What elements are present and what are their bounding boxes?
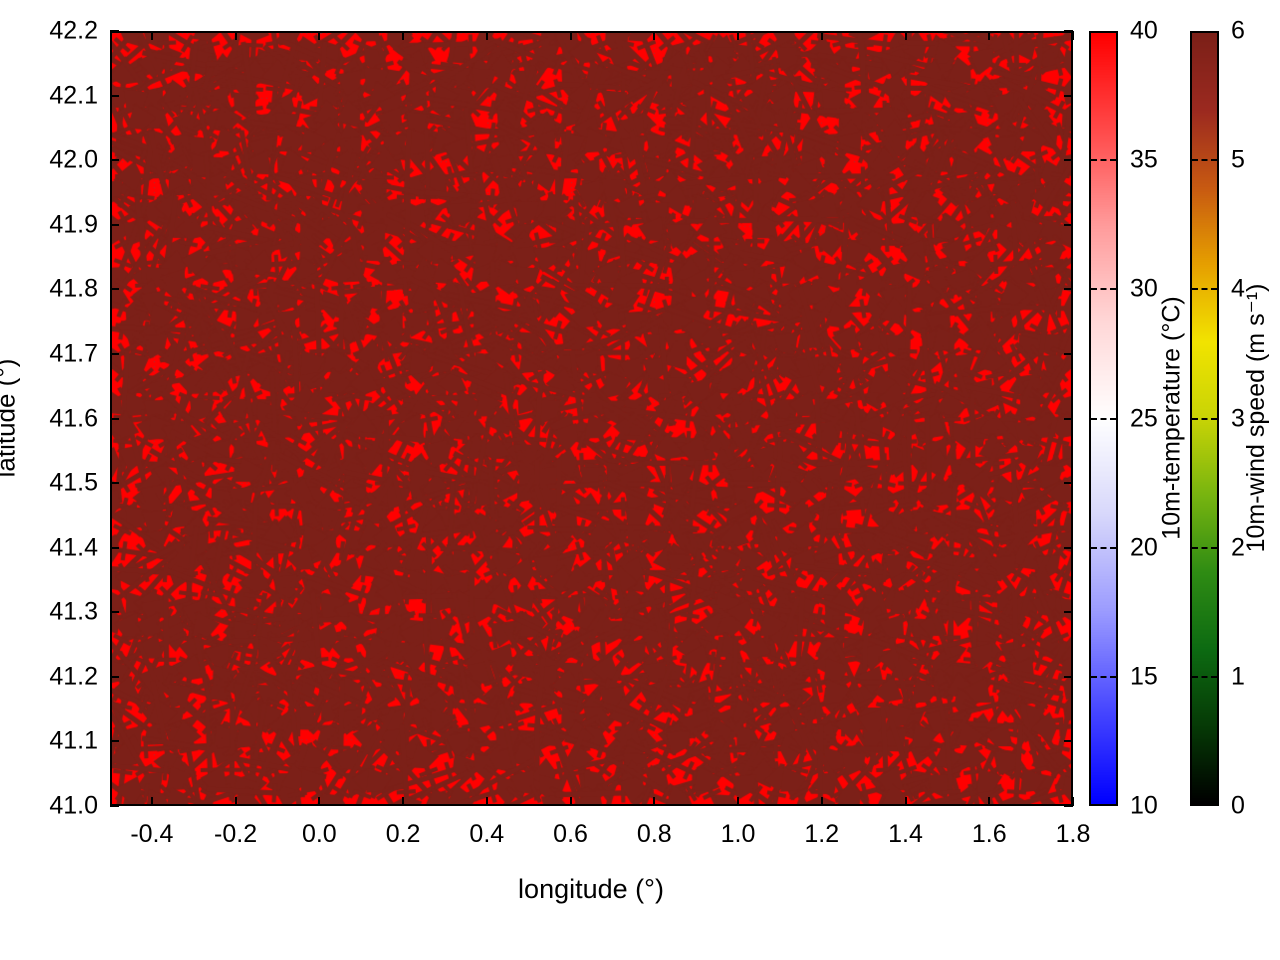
y-axis-label: latitude (°) xyxy=(0,359,22,478)
colorbar-tick-label: 10 xyxy=(1130,792,1158,821)
y-tick-label: 42.2 xyxy=(0,17,98,46)
tick-mark xyxy=(110,159,119,161)
tick-mark xyxy=(1064,159,1073,161)
tick-mark xyxy=(110,547,119,549)
colorbar-tick-label: 20 xyxy=(1130,533,1158,562)
y-tick-label: 42.0 xyxy=(0,146,98,175)
tick-mark xyxy=(151,31,153,40)
tick-mark xyxy=(402,797,404,806)
y-tick-label: 41.2 xyxy=(0,662,98,691)
tick-mark xyxy=(110,676,119,678)
colorbar-tick-label: 30 xyxy=(1130,275,1158,304)
tick-mark xyxy=(737,797,739,806)
tick-mark xyxy=(235,31,237,40)
colorbar-tick-dash xyxy=(1091,418,1116,420)
x-tick-label: 0.6 xyxy=(553,820,588,849)
colorbar-tick-label: 40 xyxy=(1130,17,1158,46)
tick-mark xyxy=(1064,353,1073,355)
tick-mark xyxy=(1064,418,1073,420)
tick-mark xyxy=(1064,482,1073,484)
colorbar-tick-label: 0 xyxy=(1231,792,1245,821)
y-tick-label: 41.1 xyxy=(0,727,98,756)
x-tick-label: 1.6 xyxy=(972,820,1007,849)
x-tick-label: 1.8 xyxy=(1056,820,1091,849)
tick-mark xyxy=(110,418,119,420)
tick-mark xyxy=(318,31,320,40)
tick-mark xyxy=(1064,288,1073,290)
tick-mark xyxy=(570,31,572,40)
y-tick-label: 41.3 xyxy=(0,598,98,627)
colorbar-tick-label: 15 xyxy=(1130,662,1158,691)
tick-mark xyxy=(1064,547,1073,549)
tick-mark xyxy=(110,224,119,226)
tick-mark xyxy=(1064,740,1073,742)
tick-mark xyxy=(318,797,320,806)
tick-mark xyxy=(110,805,119,807)
colorbar-tick-dash xyxy=(1091,159,1116,161)
tick-mark xyxy=(653,31,655,40)
tick-mark xyxy=(905,31,907,40)
colorbar-tick-dash xyxy=(1192,676,1217,678)
map-plot-panel xyxy=(110,31,1073,806)
tick-mark xyxy=(1072,31,1074,40)
x-tick-label: 0.0 xyxy=(302,820,337,849)
x-tick-label: -0.2 xyxy=(214,820,257,849)
x-tick-label: 0.2 xyxy=(386,820,421,849)
tick-mark xyxy=(821,797,823,806)
colorbar-tick-dash xyxy=(1192,547,1217,549)
y-tick-label: 41.8 xyxy=(0,275,98,304)
temperature-colorbar-label: 10m-temperature (°C) xyxy=(1158,296,1187,539)
x-tick-label: 1.0 xyxy=(721,820,756,849)
colorbar-tick-dash xyxy=(1192,418,1217,420)
x-tick-label: 1.2 xyxy=(804,820,839,849)
x-tick-label: -0.4 xyxy=(130,820,173,849)
tick-mark xyxy=(988,797,990,806)
tick-mark xyxy=(110,353,119,355)
colorbar-tick-dash xyxy=(1091,676,1116,678)
tick-mark xyxy=(653,797,655,806)
tick-mark xyxy=(486,31,488,40)
tick-mark xyxy=(1072,797,1074,806)
tick-mark xyxy=(1064,611,1073,613)
colorbar-tick-dash xyxy=(1091,547,1116,549)
tick-mark xyxy=(570,797,572,806)
x-tick-label: 1.4 xyxy=(888,820,923,849)
y-tick-label: 41.9 xyxy=(0,210,98,239)
tick-mark xyxy=(988,31,990,40)
tick-mark xyxy=(402,31,404,40)
tick-mark xyxy=(1064,224,1073,226)
wind-speed-colorbar-label: 10m-wind speed (m s⁻¹) xyxy=(1241,284,1271,553)
x-tick-label: 0.8 xyxy=(637,820,672,849)
colorbar-tick-label: 5 xyxy=(1231,146,1245,175)
tick-mark xyxy=(235,797,237,806)
tick-mark xyxy=(110,30,119,32)
tick-mark xyxy=(1064,676,1073,678)
x-tick-label: 0.4 xyxy=(469,820,504,849)
colorbar-tick-label: 35 xyxy=(1130,146,1158,175)
tick-mark xyxy=(1064,95,1073,97)
tick-mark xyxy=(110,740,119,742)
tick-mark xyxy=(110,95,119,97)
colorbar-tick-label: 6 xyxy=(1231,17,1245,46)
wind-vector-layer xyxy=(112,33,1071,804)
colorbar-tick-dash xyxy=(1192,159,1217,161)
tick-mark xyxy=(486,797,488,806)
tick-mark xyxy=(151,797,153,806)
tick-mark xyxy=(821,31,823,40)
colorbar-tick-dash xyxy=(1192,288,1217,290)
figure-root: 41.041.141.241.341.441.541.641.741.841.9… xyxy=(0,0,1280,960)
tick-mark xyxy=(110,482,119,484)
colorbar-tick-label: 1 xyxy=(1231,662,1245,691)
tick-mark xyxy=(905,797,907,806)
tick-mark xyxy=(110,611,119,613)
colorbar-tick-label: 25 xyxy=(1130,404,1158,433)
y-tick-label: 42.1 xyxy=(0,81,98,110)
tick-mark xyxy=(737,31,739,40)
colorbar-tick-dash xyxy=(1091,288,1116,290)
tick-mark xyxy=(110,288,119,290)
y-tick-label: 41.0 xyxy=(0,792,98,821)
y-tick-label: 41.4 xyxy=(0,533,98,562)
x-axis-label: longitude (°) xyxy=(518,874,664,905)
